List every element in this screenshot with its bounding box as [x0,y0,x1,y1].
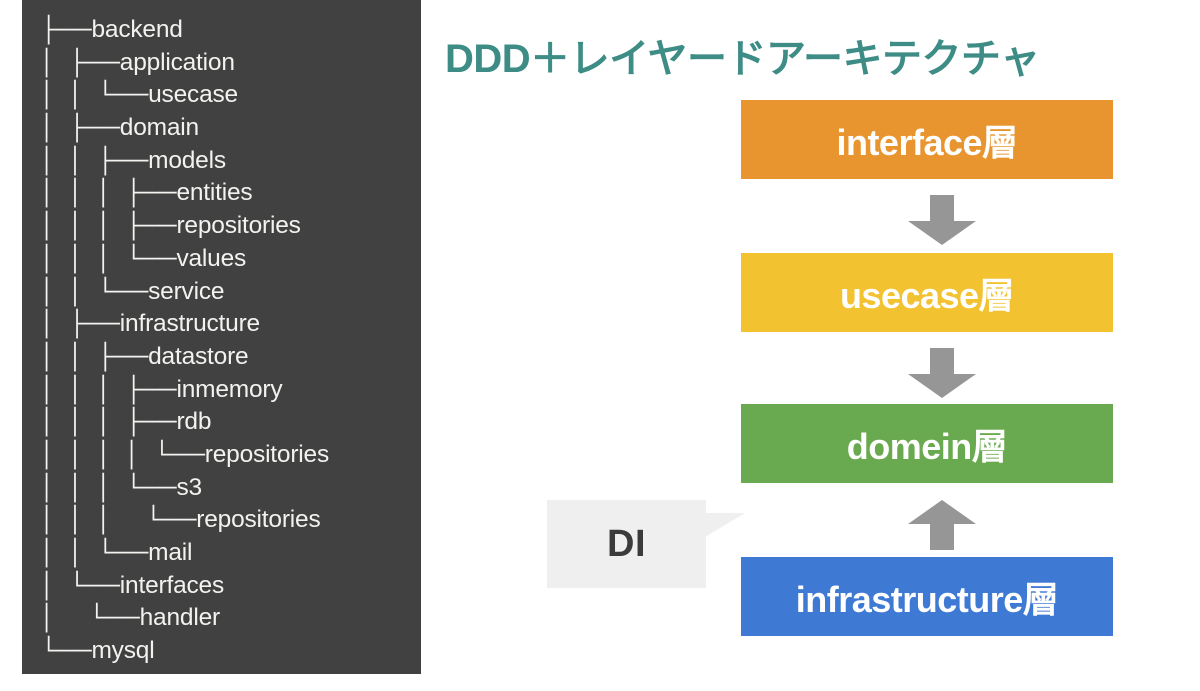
tree-line: │ ├──application [40,47,421,80]
tree-line: │ │ ├──datastore [40,341,421,374]
layer-label-usecase: usecase層 [840,267,1014,319]
layer-label-infrastructure: infrastructure層 [796,571,1059,623]
layer-box-usecase: usecase層 [741,253,1113,332]
tree-line: │ ├──infrastructure [40,308,421,341]
layer-box-interface: interface層 [741,100,1113,179]
tree-line: │ ├──domain [40,112,421,145]
tree-line: │ │ │ ├──rdb [40,406,421,439]
tree-line: │ │ └──service [40,276,421,309]
directory-tree-text: ├──backend│ ├──application│ │ └──usecase… [22,0,421,668]
layer-label-domein: domein層 [847,418,1008,470]
arrow-up-infrastructure-to-domein [906,500,978,550]
di-callout-label: DI [547,500,706,588]
tree-line: │ │ │ ├──entities [40,177,421,210]
arrow-down-interface-to-usecase [906,195,978,245]
tree-line: └──mysql [40,635,421,668]
tree-line: │ │ └──mail [40,537,421,570]
diagram-title: DDD＋レイヤードアーキテクチャ [445,26,1040,84]
layer-box-domein: domein層 [741,404,1113,483]
directory-tree-panel: ├──backend│ ├──application│ │ └──usecase… [22,0,421,674]
arrow-down-usecase-to-domein [906,348,978,398]
architecture-diagram: DDD＋レイヤードアーキテクチャ interface層 usecase層 dom… [421,0,1200,674]
tree-line: │ │ │ └──s3 [40,472,421,505]
tree-line: │ │ └──usecase [40,79,421,112]
slide-canvas: ├──backend│ ├──application│ │ └──usecase… [0,0,1200,691]
tree-line: │ │ │ ├──repositories [40,210,421,243]
layer-box-infrastructure: infrastructure層 [741,557,1113,636]
di-callout: DI [547,500,706,588]
layer-label-interface: interface層 [836,114,1017,166]
di-callout-tail-icon [705,513,745,537]
tree-line: ├──backend [40,14,421,47]
tree-line: │ │ ├──models [40,145,421,178]
tree-line: │ │ │ └──values [40,243,421,276]
tree-line: │ │ │ └──repositories [40,504,421,537]
tree-line: │ │ │ ├──inmemory [40,374,421,407]
tree-line: │ └──handler [40,602,421,635]
tree-line: │ │ │ │ └──repositories [40,439,421,472]
tree-line: │ └──interfaces [40,570,421,603]
